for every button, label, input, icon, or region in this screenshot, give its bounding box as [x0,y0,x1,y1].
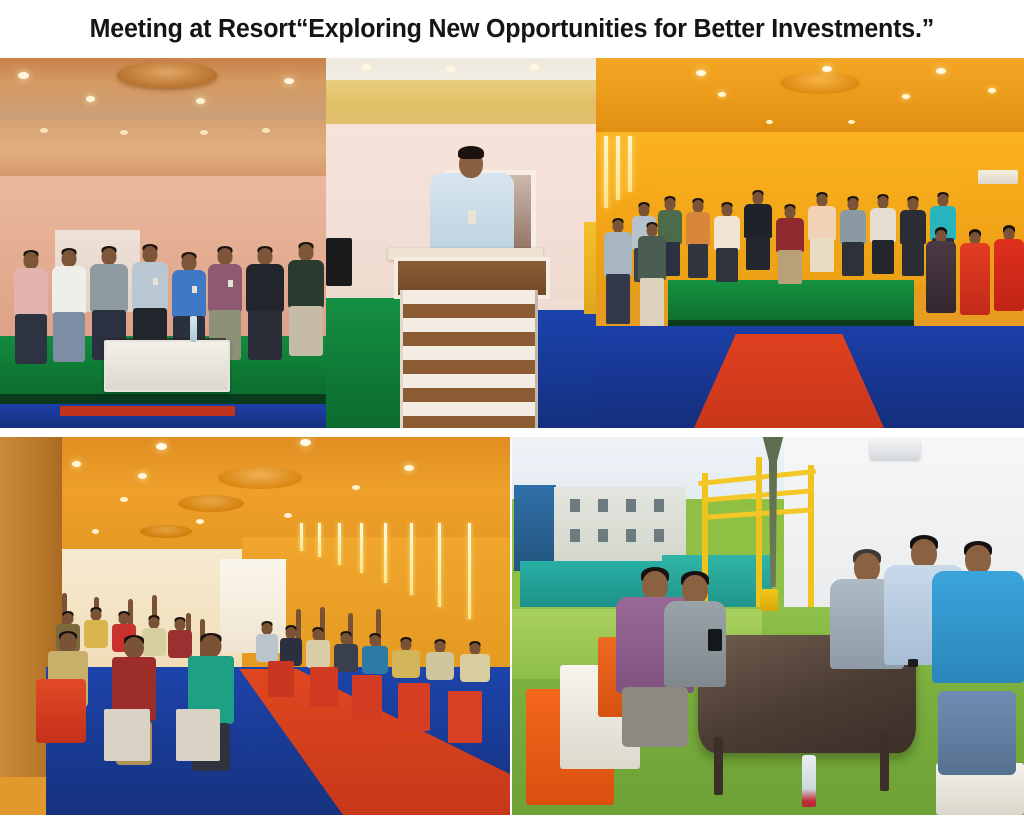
recessed-light [200,130,208,135]
soft-drink-bottle [802,755,816,807]
wrist-watch [908,659,918,667]
photo-speaker-at-podium [326,58,596,428]
person [840,198,866,290]
recessed-light [718,92,726,97]
upper-wall [0,120,326,176]
led-strip [468,523,471,619]
recessed-light [18,72,29,79]
photo-group-on-stage [0,58,326,428]
person [14,252,48,370]
ceiling [596,58,1024,132]
table-leg [880,733,889,791]
photo-audience-raised-hands [0,437,510,815]
led-strip [338,523,341,565]
red-carpet-strip [60,406,235,416]
led-strip [438,523,441,607]
blue-building [514,485,556,571]
recessed-light [352,485,360,490]
chair [310,667,338,707]
recessed-light [72,461,81,467]
ceiling-medallion-icon [780,72,860,94]
photo-outdoor-table-meeting [512,437,1024,815]
person [776,206,804,292]
recessed-light [138,473,147,479]
recessed-light [196,519,204,524]
chair [268,661,294,697]
recessed-light [530,64,539,70]
person [926,230,956,330]
recessed-light [86,96,95,102]
recessed-light [40,128,48,133]
person [426,641,454,697]
recessed-light [196,98,205,104]
air-conditioner-icon [870,439,920,459]
led-strip [384,523,387,583]
window [626,529,636,542]
recessed-light [766,120,773,124]
person [994,228,1024,332]
window [570,499,580,512]
window [626,499,636,512]
ceiling-disc-icon [178,495,244,512]
window [598,529,608,542]
recessed-light [848,120,855,124]
person [714,204,740,286]
recessed-light [284,78,294,84]
window [570,529,580,542]
recessed-light [446,66,455,72]
blue-carpet [536,310,596,428]
air-conditioner-icon [978,170,1018,184]
led-strip [410,523,413,595]
mobile-phone [708,629,722,651]
person [686,200,710,284]
recessed-light [92,529,99,534]
recessed-light [902,94,910,99]
recessed-light [262,128,270,133]
yellow-wall-strip [584,222,596,314]
water-bottle [190,316,197,342]
photo-large-group [596,58,1024,428]
recessed-light [156,443,167,450]
recessed-light [936,68,946,74]
recessed-light [120,497,128,502]
recessed-light [300,439,311,446]
recessed-light [284,513,292,518]
cove-light-band [326,80,596,126]
recessed-light [362,64,371,70]
table-leg [714,737,723,795]
led-strip [360,523,363,573]
collage-page: Meeting at Resort“Exploring New Opportun… [0,0,1024,819]
chair [104,709,150,761]
recessed-light [696,70,706,76]
led-strip [616,136,620,200]
person [246,248,284,370]
person [960,232,990,332]
window [598,499,608,512]
trash-bin [760,589,778,611]
window [654,529,664,542]
chair [448,691,482,743]
ceiling-disc-icon [218,467,302,489]
led-strip [300,523,303,551]
ceiling-disc-icon [140,525,192,538]
chair [36,679,86,743]
photo-collage [0,58,1024,815]
coffee-table [104,340,230,392]
television-monitor [326,238,352,286]
window [654,499,664,512]
speaker-hair [458,146,484,159]
led-strip [318,523,321,557]
person [52,250,86,370]
chair [398,683,430,731]
person [808,194,836,290]
chair [352,675,382,719]
person [744,192,772,288]
led-strip [604,136,608,208]
led-strip [628,136,632,192]
page-title: Meeting at Resort“Exploring New Opportun… [90,15,934,44]
podium-body [400,290,538,428]
recessed-light [988,88,996,93]
recessed-light [822,66,832,72]
id-badge [468,210,476,224]
person [932,545,1024,775]
person [638,224,666,332]
person [870,196,896,290]
person [900,198,926,290]
recessed-light [404,465,414,471]
person [288,244,324,370]
recessed-light [120,130,128,135]
page-title-bar: Meeting at Resort“Exploring New Opportun… [0,0,1024,58]
person [604,220,632,330]
chair [176,709,220,761]
ceiling-light-fixture-icon [117,62,217,88]
